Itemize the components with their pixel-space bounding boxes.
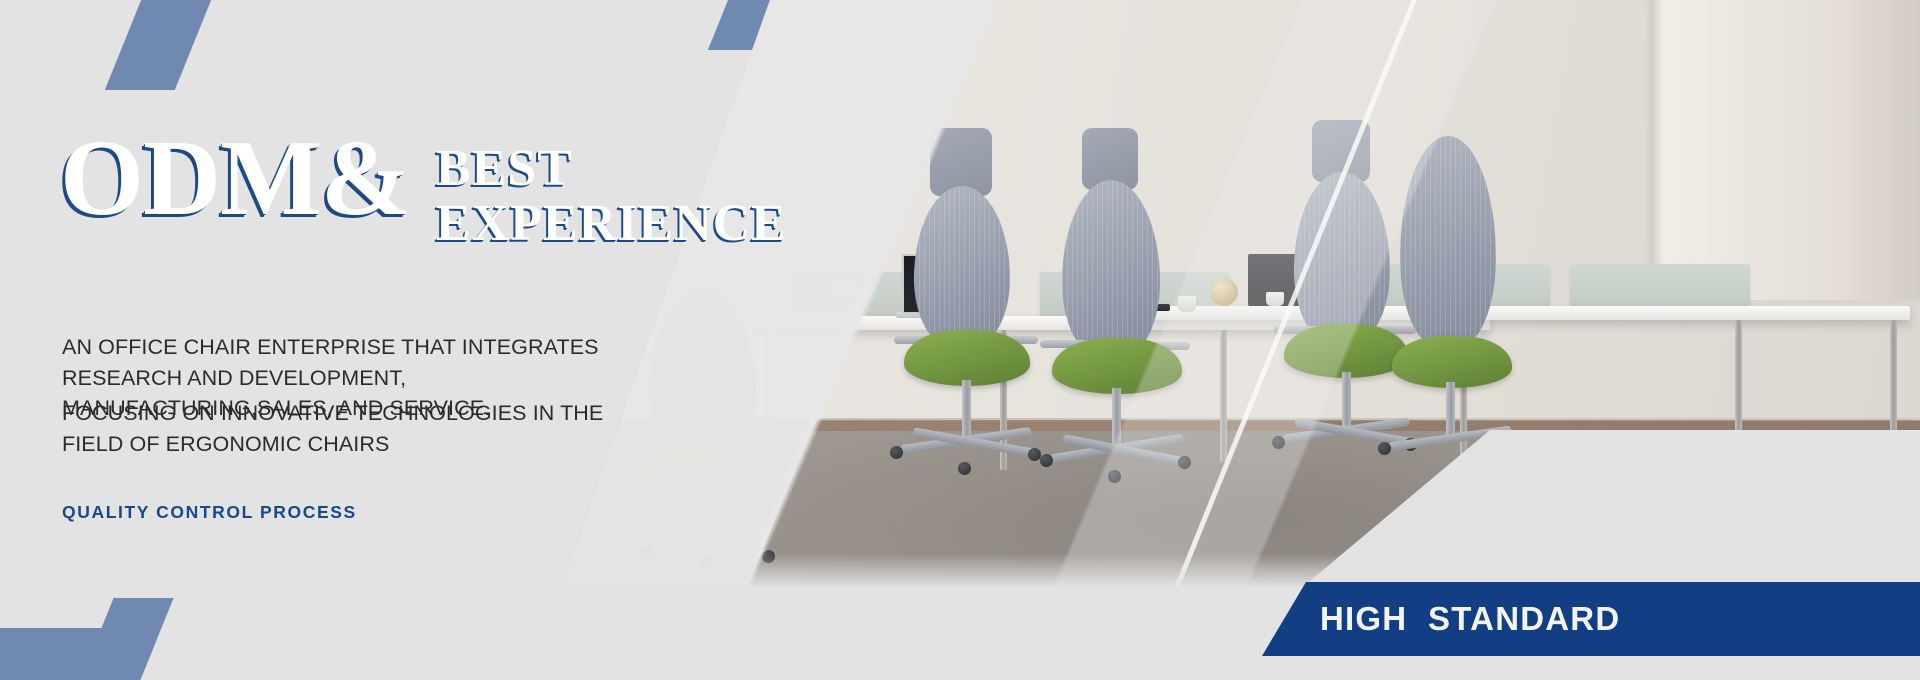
chair-seat: [1052, 338, 1182, 394]
chair-backrest: [914, 186, 1010, 346]
desk-privacy-panel-4: [1570, 264, 1750, 312]
headline-primary: ODM&: [60, 128, 410, 230]
office-pillar-shadow: [1650, 0, 1664, 300]
headline-secondary-line-2: EXPERIENCE: [436, 197, 787, 252]
chair-caster-1: [1040, 454, 1053, 467]
description-paragraph-2: FOCUSING ON INNOVATIVE TECHNOLOGIES IN T…: [62, 398, 662, 459]
high-standard-badge: HIGH STANDARD: [1262, 582, 1920, 656]
office-pillar: [1650, 0, 1920, 300]
high-standard-badge-label: HIGH STANDARD: [1320, 600, 1620, 638]
chair-caster-1: [1378, 442, 1391, 455]
headline-block: ODM& BEST EXPERIENCE: [60, 128, 787, 251]
chair-seat: [1392, 336, 1512, 388]
chair-post: [962, 380, 971, 442]
chair-backrest: [1400, 136, 1496, 346]
promo-banner: ODM& BEST EXPERIENCE AN OFFICE CHAIR ENT…: [0, 0, 1920, 680]
chair-post: [1112, 388, 1121, 450]
headline-secondary-line-1: BEST: [436, 142, 787, 197]
chair-caster-3: [1108, 470, 1121, 483]
chair-caster-3: [958, 462, 971, 475]
decorative-slash-top-left-1: [105, 0, 215, 90]
chair-post: [1342, 372, 1351, 432]
chair-backrest: [1062, 180, 1160, 356]
chair-caster-1: [890, 446, 903, 459]
desk-leg-5: [1735, 320, 1742, 442]
headline-secondary-block: BEST EXPERIENCE: [436, 142, 787, 251]
desk-leg-6: [1890, 320, 1897, 438]
chair-caster-2: [1178, 456, 1191, 469]
chair-caster-1: [1272, 436, 1285, 449]
office-chair-right-center: [1000, 128, 1240, 548]
quality-control-process-link[interactable]: QUALITY CONTROL PROCESS: [62, 502, 357, 523]
chair-post: [1446, 382, 1455, 440]
